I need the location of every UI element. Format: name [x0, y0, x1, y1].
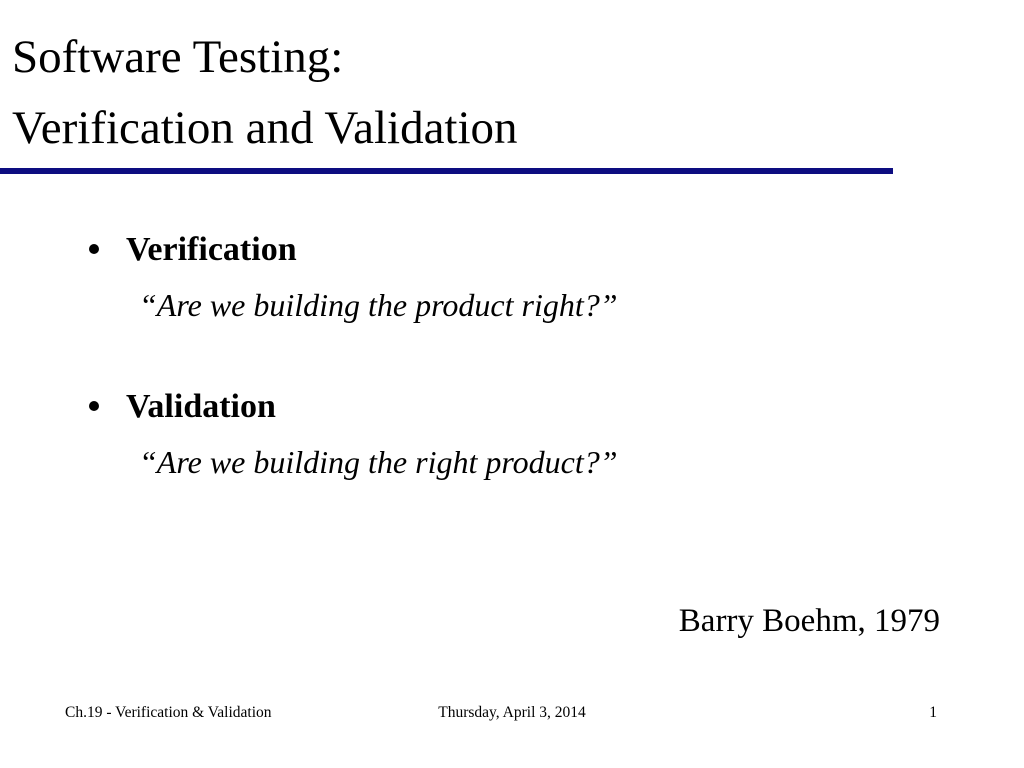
bullet-item-validation: Validation: [0, 385, 1024, 435]
bullet-label-validation: Validation: [88, 385, 276, 430]
footer-page-number: 1: [0, 704, 937, 722]
title-underline-rule: [0, 168, 893, 174]
bullet-group-validation: Validation “Are we building the right pr…: [0, 385, 1024, 484]
bullet-label-verification: Verification: [88, 228, 297, 273]
slide-title: Software Testing: Verification and Valid…: [12, 22, 912, 165]
bullet-quote-verification: “Are we building the product right?”: [0, 284, 1024, 327]
bullet-dot-icon: [89, 244, 99, 254]
slide-title-line-1: Software Testing:: [12, 22, 912, 93]
bullet-dot-icon: [89, 401, 99, 411]
slide: Software Testing: Verification and Valid…: [0, 0, 1024, 768]
attribution-text: Barry Boehm, 1979: [0, 600, 940, 643]
bullet-group-verification: Verification “Are we building the produc…: [0, 228, 1024, 327]
slide-title-line-2: Verification and Validation: [12, 93, 912, 164]
bullet-item-verification: Verification: [0, 228, 1024, 278]
slide-body: Verification “Are we building the produc…: [0, 228, 1024, 484]
slide-footer: Ch.19 - Verification & Validation Thursd…: [0, 704, 1024, 728]
bullet-quote-validation: “Are we building the right product?”: [0, 441, 1024, 484]
